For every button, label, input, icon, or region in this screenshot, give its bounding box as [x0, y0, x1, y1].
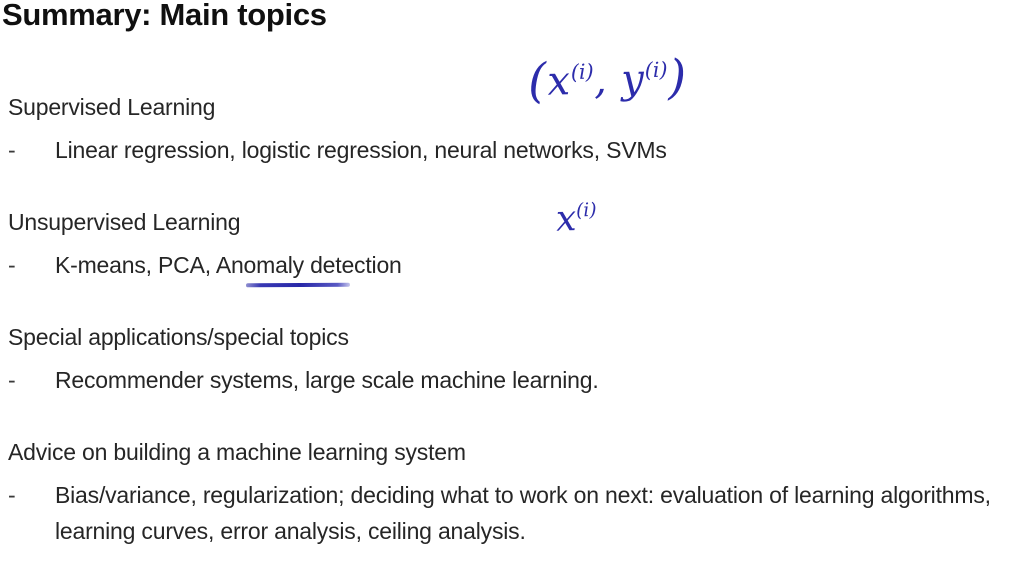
ink-x-symbol: x: [555, 198, 577, 240]
slide-canvas: Summary: Main topics Supervised Learning…: [0, 0, 1016, 566]
ink-annotation-training-example-pair: (x(i), y(i)): [527, 54, 687, 105]
bullet-item: - Bias/variance, regularization; decidin…: [8, 477, 1015, 549]
ink-y-superscript: (i): [644, 58, 668, 83]
bullet-item: - K-means, PCA, Anomaly detection: [8, 247, 402, 283]
bullet-dash-icon: -: [8, 477, 48, 513]
ink-annotation-unlabeled-example: x(i): [555, 200, 597, 237]
page-title: Summary: Main topics: [2, 0, 327, 33]
bullet-text: Linear regression, logistic regression, …: [55, 132, 667, 168]
section-heading: Supervised Learning: [8, 94, 215, 121]
bullet-text: K-means, PCA, Anomaly detection: [55, 247, 402, 283]
ink-x-superscript: (i): [576, 200, 597, 222]
bullet-dash-icon: -: [8, 362, 48, 398]
section-heading: Special applications/special topics: [8, 324, 349, 351]
section-heading: Unsupervised Learning: [8, 209, 240, 236]
bullet-item: - Linear regression, logistic regression…: [8, 132, 667, 168]
bullet-item: - Recommender systems, large scale machi…: [8, 362, 599, 398]
ink-close-paren: ): [667, 50, 688, 105]
bullet-dash-icon: -: [8, 132, 48, 168]
bullet-dash-icon: -: [8, 247, 48, 283]
ink-y-symbol: y: [621, 56, 646, 103]
section-heading: Advice on building a machine learning sy…: [8, 439, 466, 466]
bullet-text: Recommender systems, large scale machine…: [55, 362, 599, 398]
ink-open-paren: (: [527, 54, 548, 109]
bullet-text: Bias/variance, regularization; deciding …: [55, 477, 1015, 549]
ink-underline-anomaly: [246, 283, 350, 288]
ink-x-superscript: (i): [570, 60, 594, 85]
ink-x-symbol: x: [547, 58, 572, 105]
ink-comma: ,: [593, 57, 608, 103]
